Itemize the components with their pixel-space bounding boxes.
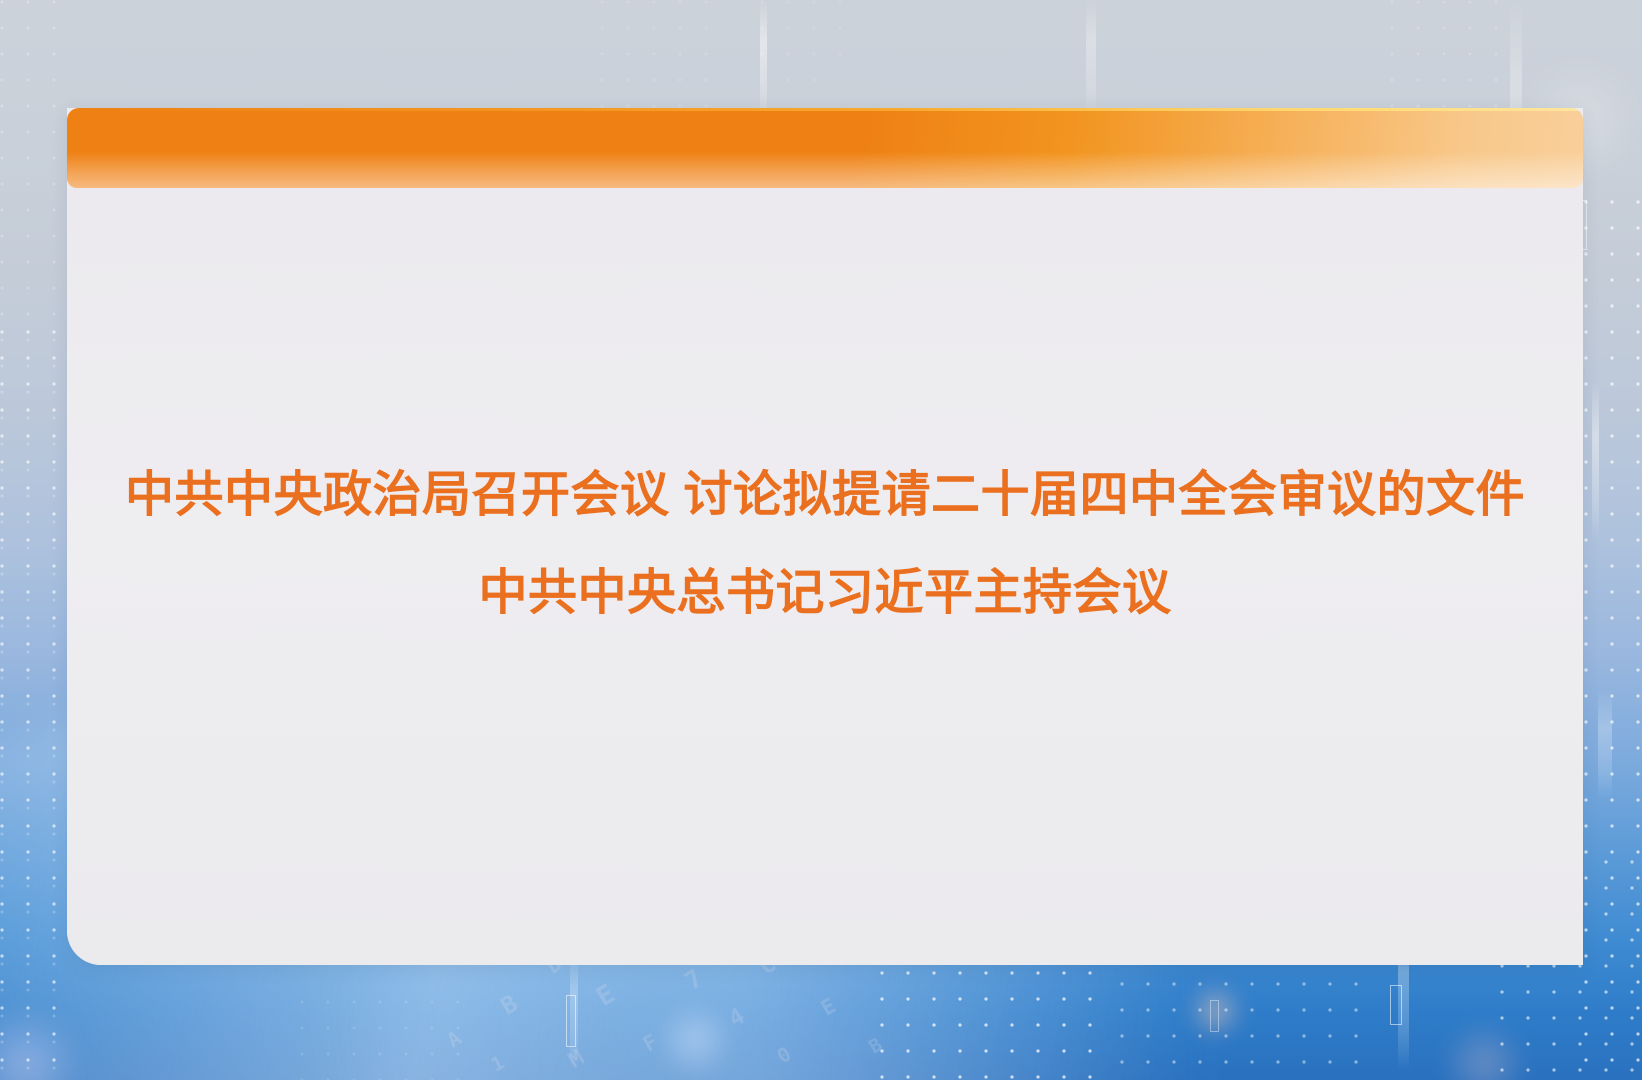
- title-card: 中共中央政治局召开会议 讨论拟提请二十届四中全会审议的文件 中共中央总书记习近平…: [67, 108, 1583, 965]
- card-body: 中共中央政治局召开会议 讨论拟提请二十届四中全会审议的文件 中共中央总书记习近平…: [67, 188, 1583, 965]
- headline-line-1: 中共中央政治局召开会议 讨论拟提请二十届四中全会审议的文件: [101, 446, 1549, 544]
- headline-block: 中共中央政治局召开会议 讨论拟提请二十届四中全会审议的文件 中共中央总书记习近平…: [67, 446, 1583, 642]
- slide-stage: ABDEF7401MDCEB 中共中央政治局召开会议 讨论拟提请二十届四中全会审…: [0, 0, 1642, 1080]
- headline-line-2: 中共中央总书记习近平主持会议: [101, 544, 1549, 642]
- card-header-bar: [67, 108, 1583, 188]
